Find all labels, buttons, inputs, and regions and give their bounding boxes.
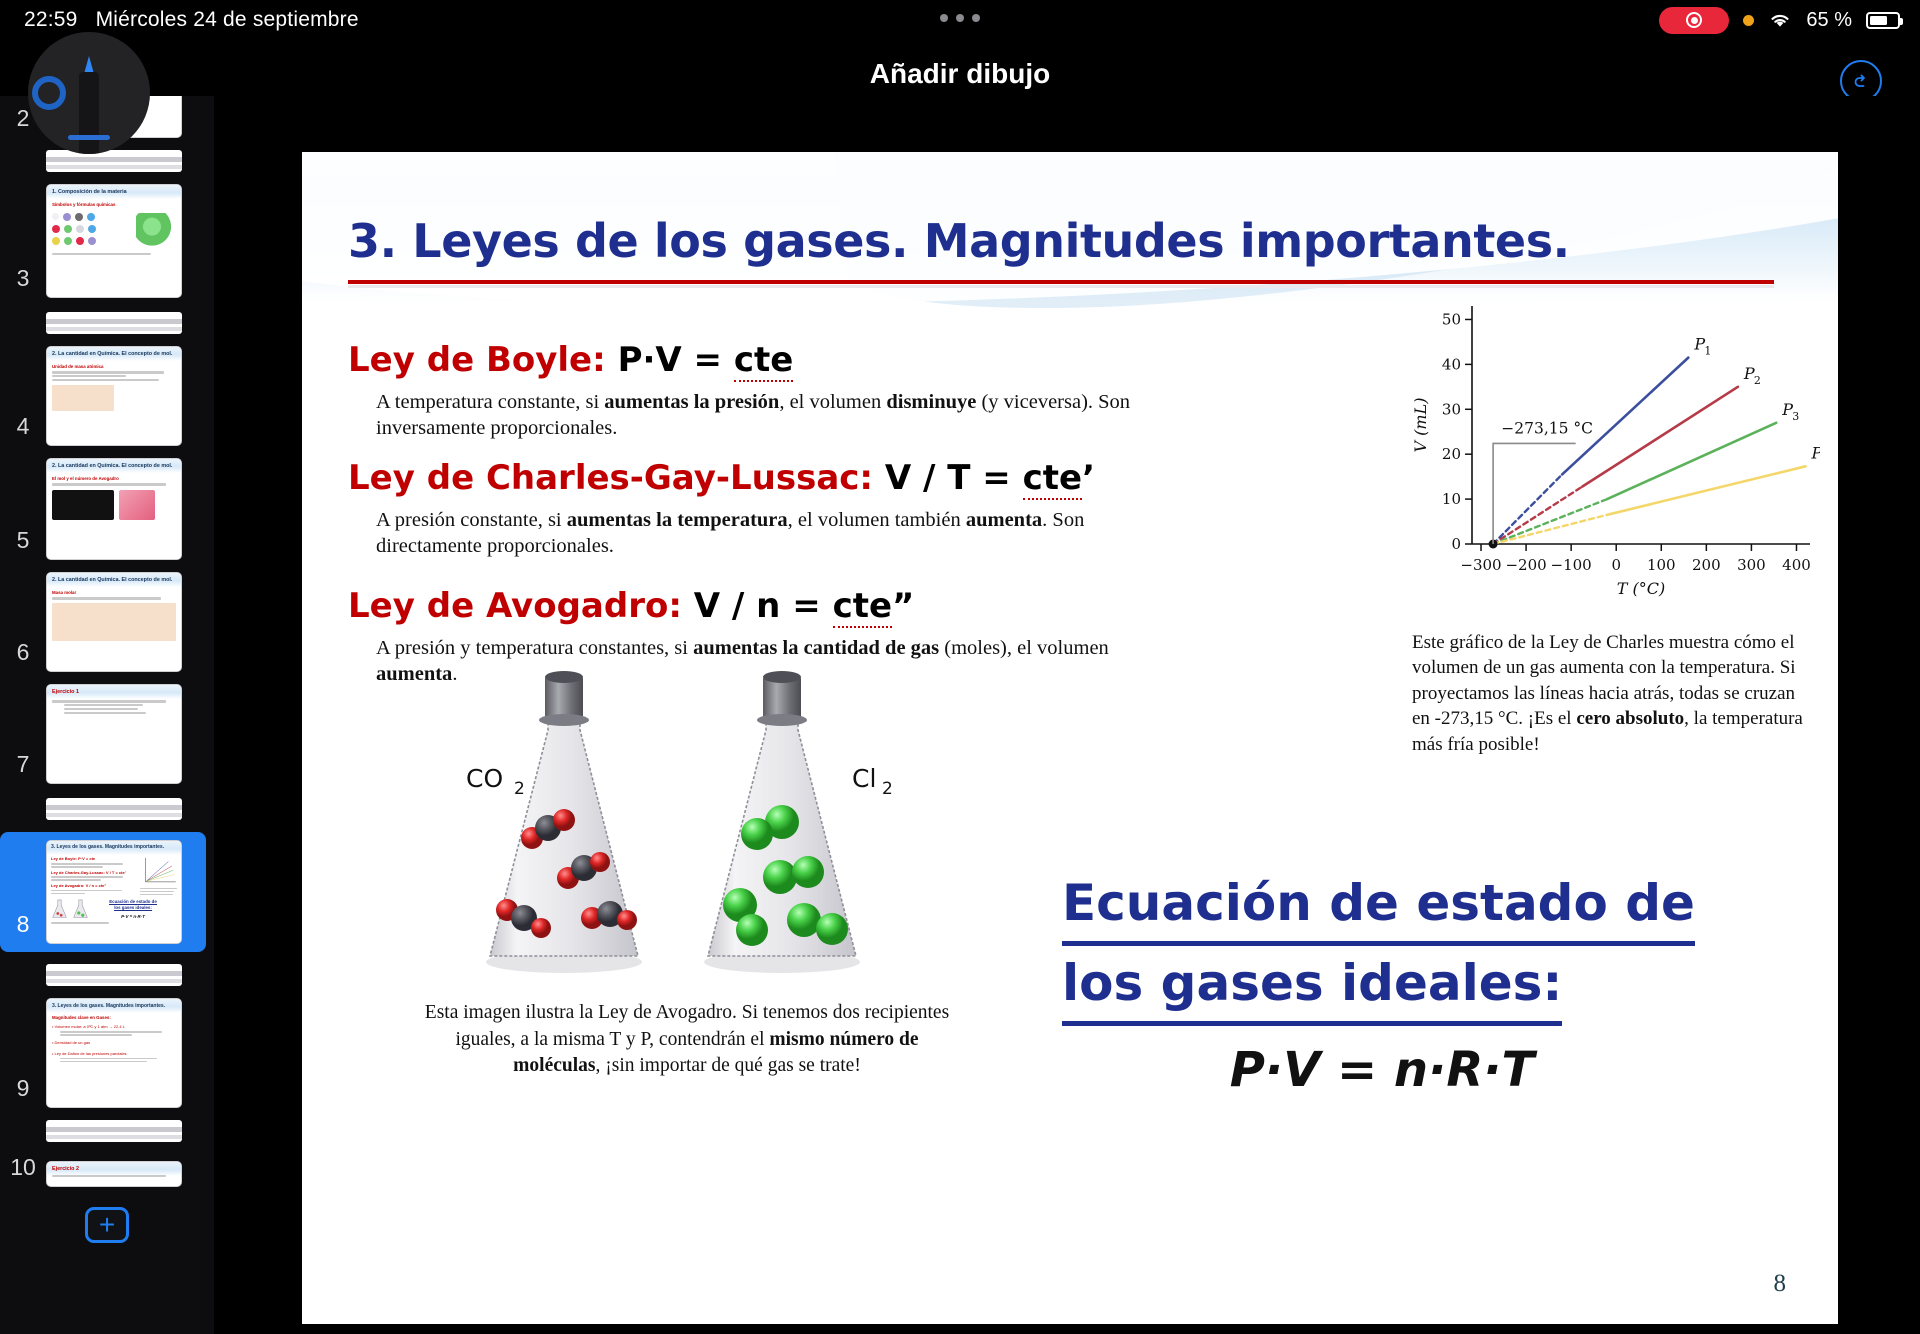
- law-heading: Ley de Boyle: P·V = cte: [348, 340, 1166, 380]
- svg-text:T (°C): T (°C): [1617, 579, 1665, 598]
- add-slide-button[interactable]: +: [85, 1207, 129, 1243]
- thumbnail-number: 4: [0, 413, 46, 446]
- law-formula-prefix: V / T =: [885, 458, 1023, 498]
- undo-arrow-glyph: [1849, 69, 1873, 93]
- slide-canvas[interactable]: 3. Leyes de los gases. Magnitudes import…: [214, 96, 1920, 1334]
- thumbnail-card[interactable]: 2. La cantidad en Química. El concepto d…: [46, 346, 182, 446]
- flasks-svg: CO 2 Cl: [452, 662, 912, 992]
- thumbnail-title: 3. Leyes de los gases. Magnitudes import…: [52, 1003, 176, 1010]
- thumbnail-preview: 2. La cantidad en Química. El concepto d…: [47, 347, 181, 445]
- current-slide[interactable]: 3. Leyes de los gases. Magnitudes import…: [302, 152, 1838, 1324]
- law-name: Ley de Avogadro:: [348, 586, 682, 626]
- thumbnail-number: 3: [0, 265, 46, 298]
- thumbnail-separator: [46, 1120, 182, 1142]
- thumbnail-separator: [46, 150, 182, 172]
- chart-svg: 01020304050−300−200−1000100200300400T (°…: [1410, 292, 1820, 614]
- law-formula-suffix: ”: [892, 586, 914, 626]
- thumbnail-subtitle: Símbolos y fórmulas químicas: [52, 202, 176, 208]
- flask-label-co2: CO: [466, 764, 503, 793]
- thumbnail-card[interactable]: 2. La cantidad en Química. El concepto d…: [46, 458, 182, 560]
- amber-privacy-dot-icon: [1743, 15, 1754, 26]
- status-bar-right: 65 %: [1659, 0, 1900, 40]
- thumbnail-preview: Ejercicio 2: [47, 1162, 181, 1186]
- svg-text:V (mL): V (mL): [1411, 398, 1430, 453]
- tablet-screen: 22:59 Miércoles 24 de septiembre 65 % Añ…: [0, 0, 1920, 1334]
- law-description: A temperatura constante, si aumentas la …: [376, 389, 1166, 441]
- battery-icon: [1866, 12, 1900, 29]
- law-formula-suffix: ’: [1082, 458, 1095, 498]
- law-formula-cte: cte: [1023, 458, 1082, 500]
- svg-text:10: 10: [1442, 490, 1461, 508]
- status-date: Miércoles 24 de septiembre: [96, 8, 359, 32]
- list-item[interactable]: 4 2. La cantidad en Química. El concepto…: [0, 346, 214, 446]
- record-dot-icon: [1686, 12, 1702, 28]
- svg-text:−100: −100: [1551, 556, 1592, 574]
- status-time: 22:59: [24, 8, 78, 32]
- svg-text:−200: −200: [1505, 556, 1546, 574]
- flask-label-cl2: Cl: [852, 764, 876, 793]
- battery-percent: 65 %: [1806, 9, 1852, 32]
- pen-tool-icon[interactable]: [28, 32, 150, 154]
- page-title: Añadir dibujo: [0, 58, 1920, 90]
- svg-text:3: 3: [1792, 410, 1799, 423]
- list-item[interactable]: 10 Ejercicio 2: [0, 1154, 214, 1187]
- avogadro-flasks-illustration: CO 2 Cl: [452, 662, 912, 992]
- status-bar-left: 22:59 Miércoles 24 de septiembre: [0, 8, 359, 32]
- thumbnail-card[interactable]: 2. La cantidad en Química. El concepto d…: [46, 572, 182, 672]
- thumbnail-title: Ejercicio 1: [52, 689, 176, 696]
- svg-text:2: 2: [514, 779, 525, 799]
- thumbnail-number: 10: [0, 1154, 46, 1187]
- thumbnail-number: 7: [0, 751, 46, 784]
- law-heading: Ley de Charles-Gay-Lussac: V / T = cte’: [348, 458, 1166, 498]
- thumbnail-preview: 3. Leyes de los gases. Magnitudes import…: [47, 841, 181, 943]
- thumbnail-preview: 2. La cantidad en Química. El concepto d…: [47, 459, 181, 559]
- pen-halo-icon: [32, 76, 66, 110]
- flasks-caption: Esta imagen ilustra la Ley de Avogadro. …: [422, 1000, 952, 1080]
- svg-text:1: 1: [1704, 345, 1711, 358]
- thumbnail-preview: 2. La cantidad en Química. El concepto d…: [47, 573, 181, 671]
- thumbnail-separator: [46, 312, 182, 334]
- svg-text:300: 300: [1737, 556, 1766, 574]
- svg-text:50: 50: [1442, 310, 1461, 328]
- battery-fill: [1870, 16, 1887, 25]
- slide-title: 3. Leyes de los gases. Magnitudes import…: [348, 214, 1798, 268]
- svg-text:100: 100: [1647, 556, 1676, 574]
- thumbnail-number: 9: [0, 1075, 46, 1108]
- charles-law-chart: 01020304050−300−200−1000100200300400T (°…: [1410, 292, 1820, 614]
- thumbnail-subtitle: Masa molar: [52, 590, 176, 596]
- list-item[interactable]: 7 Ejercicio 1: [0, 684, 214, 784]
- flask-co2: CO 2: [466, 671, 642, 973]
- svg-text:2: 2: [882, 779, 893, 799]
- ideal-gas-equation: P·V = n·R·T: [1062, 1042, 1702, 1098]
- thumbnail-title: 3. Leyes de los gases. Magnitudes import…: [51, 844, 177, 851]
- thumbnail-card[interactable]: 3. Leyes de los gases. Magnitudes import…: [46, 998, 182, 1108]
- thumbnail-subtitle: Unidad de masa atómica: [52, 364, 176, 370]
- svg-text:400: 400: [1782, 556, 1811, 574]
- law-name: Ley de Boyle:: [348, 340, 606, 380]
- ideal-gas-heading-line2: los gases ideales:: [1062, 946, 1562, 1026]
- pen-ring-icon: [68, 135, 110, 140]
- list-item[interactable]: 5 2. La cantidad en Química. El concepto…: [0, 458, 214, 560]
- list-item[interactable]: 6 2. La cantidad en Química. El concepto…: [0, 572, 214, 672]
- law-block-boyle: Ley de Boyle: P·V = cte A temperatura co…: [348, 340, 1166, 441]
- law-formula-cte: cte: [833, 586, 892, 628]
- law-block-charles-gay-lussac: Ley de Charles-Gay-Lussac: V / T = cte’ …: [348, 458, 1166, 559]
- list-item[interactable]: 3 1. Composición de la materia Símbolos …: [0, 184, 214, 298]
- law-formula-prefix: P·V =: [618, 340, 734, 380]
- sidebar-item-slide-8[interactable]: 8 3. Leyes de los gases. Magnitudes impo…: [0, 832, 206, 952]
- svg-text:30: 30: [1442, 400, 1461, 418]
- thumbnail-preview: 1. Composición de la materia Símbolos y …: [47, 185, 181, 297]
- thumbnail-card[interactable]: Ejercicio 2: [46, 1161, 182, 1187]
- home-indicator[interactable]: [700, 1313, 1220, 1322]
- ideal-gas-heading: Ecuación de estado de los gases ideales:: [1062, 866, 1702, 1026]
- thumbnail-separator: [46, 964, 182, 986]
- wifi-icon: [1768, 11, 1792, 29]
- thumbnail-preview: 3. Leyes de los gases. Magnitudes import…: [47, 999, 181, 1107]
- thumbnail-title: 2. La cantidad en Química. El concepto d…: [52, 351, 176, 358]
- title-underline-shadow: [348, 285, 1774, 288]
- thumbnail-subtitle: El mol y el número de Avogadro: [52, 476, 176, 482]
- list-item[interactable]: 9 3. Leyes de los gases. Magnitudes impo…: [0, 998, 214, 1108]
- thumbnail-title: 1. Composición de la materia: [52, 189, 176, 196]
- slide-thumbnail-sidebar[interactable]: 2 3 1. Composición de la materia: [0, 96, 214, 1334]
- thumbnail-card[interactable]: Ejercicio 1: [46, 684, 182, 784]
- slide-page-number: 8: [1774, 1270, 1787, 1298]
- thumbnail-number: 6: [0, 639, 46, 672]
- thumbnail-number: 5: [0, 527, 46, 560]
- svg-text:0: 0: [1611, 556, 1621, 574]
- law-formula-prefix: V / n =: [694, 586, 833, 626]
- svg-text:−273,15 °C: −273,15 °C: [1501, 420, 1593, 438]
- thumbnail-preview: Ejercicio 1: [47, 685, 181, 783]
- svg-text:20: 20: [1442, 445, 1461, 463]
- ideal-gas-heading-line1: Ecuación de estado de: [1062, 866, 1695, 946]
- pen-body-icon: [79, 72, 99, 154]
- record-pill-icon[interactable]: [1659, 7, 1729, 34]
- svg-text:−300: −300: [1460, 556, 1501, 574]
- more-dots-icon[interactable]: [940, 14, 980, 22]
- thumbnail-subtitle: Magnitudes clave en Gases:: [52, 1015, 176, 1021]
- thumbnail-card[interactable]: 1. Composición de la materia Símbolos y …: [46, 184, 182, 298]
- thumbnail-title: 2. La cantidad en Química. El concepto d…: [52, 577, 176, 584]
- thumbnail-title: 2. La cantidad en Química. El concepto d…: [52, 463, 176, 470]
- flask-cl2: Cl 2: [704, 671, 893, 973]
- thumbnail-card[interactable]: 3. Leyes de los gases. Magnitudes import…: [46, 840, 182, 944]
- svg-text:0: 0: [1451, 535, 1461, 553]
- law-name: Ley de Charles-Gay-Lussac:: [348, 458, 873, 498]
- thumbnail-number: 8: [0, 911, 46, 944]
- law-description: A presión constante, si aumentas la temp…: [376, 507, 1166, 559]
- thumbnail-separator: [46, 798, 182, 820]
- thumbnail-title: Ejercicio 2: [52, 1166, 176, 1173]
- law-formula-cte: cte: [734, 340, 793, 382]
- svg-text:P: P: [1810, 443, 1820, 462]
- law-heading: Ley de Avogadro: V / n = cte”: [348, 586, 1166, 626]
- title-underline: [348, 280, 1774, 284]
- svg-text:2: 2: [1754, 374, 1761, 387]
- svg-text:40: 40: [1442, 355, 1461, 373]
- svg-text:200: 200: [1692, 556, 1721, 574]
- chart-caption: Este gráfico de la Ley de Charles muestr…: [1412, 630, 1812, 757]
